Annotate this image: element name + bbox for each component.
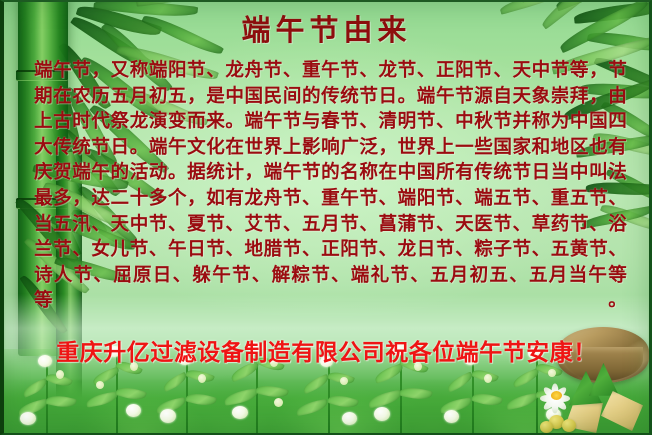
lotus-center: [551, 391, 562, 400]
company-greeting-footer: 重庆升亿过滤设备制造有限公司祝各位端午节安康！: [4, 338, 649, 368]
yellow-fruit: [562, 419, 576, 432]
zongzi-rice: [601, 391, 643, 431]
yellow-fruit: [540, 421, 553, 433]
page-title: 端午节由来: [4, 14, 649, 48]
dragon-boat-festival-poster: 端午节由来 端午节，又称端阳节、龙舟节、重午节、龙节、正阳节、天中节等，节期在农…: [0, 0, 652, 435]
article-body-text: 端午节，又称端阳节、龙舟节、重午节、龙节、正阳节、天中节等，节期在农历五月初五，…: [34, 58, 627, 340]
lotus-flower-icon: [539, 383, 573, 407]
